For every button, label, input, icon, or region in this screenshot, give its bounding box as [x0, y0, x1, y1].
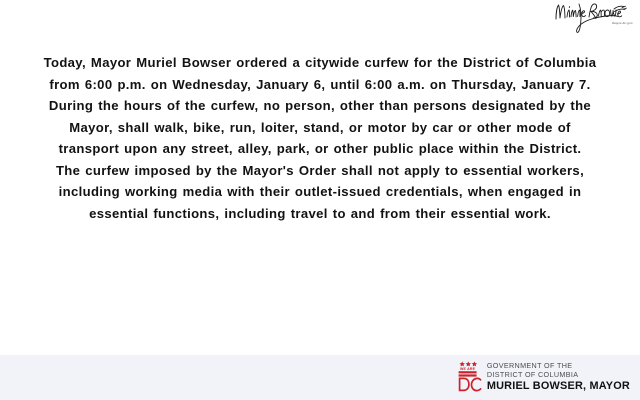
footer-line-district: DISTRICT OF COLUMBIA [487, 371, 630, 380]
handwritten-signature-icon [548, 0, 636, 34]
paragraph-curfew-restrictions: During the hours of the curfew, no perso… [40, 95, 600, 160]
dc-government-logo: WE ARE GOVERNMENT OF THE DISTRICT OF COL… [457, 361, 630, 394]
paragraph-essential-workers: The curfew imposed by the Mayor's Order … [40, 160, 600, 225]
slide-canvas: mayor.dc.gov Today, Mayor Muriel Bowser … [0, 0, 640, 400]
footer-band: WE ARE GOVERNMENT OF THE DISTRICT OF COL… [0, 355, 640, 400]
signature-url-text: mayor.dc.gov [612, 21, 633, 25]
announcement-body: Today, Mayor Muriel Bowser ordered a cit… [40, 52, 600, 224]
footer-line-mayor: MURIEL BOWSER, MAYOR [487, 380, 630, 393]
paragraph-curfew-order: Today, Mayor Muriel Bowser ordered a cit… [40, 52, 600, 95]
mayor-signature: mayor.dc.gov [548, 0, 636, 34]
dc-flag-emblem-icon: WE ARE [457, 361, 484, 392]
footer-wordmark: GOVERNMENT OF THE DISTRICT OF COLUMBIA M… [487, 361, 630, 392]
svg-text:WE ARE: WE ARE [460, 367, 476, 371]
